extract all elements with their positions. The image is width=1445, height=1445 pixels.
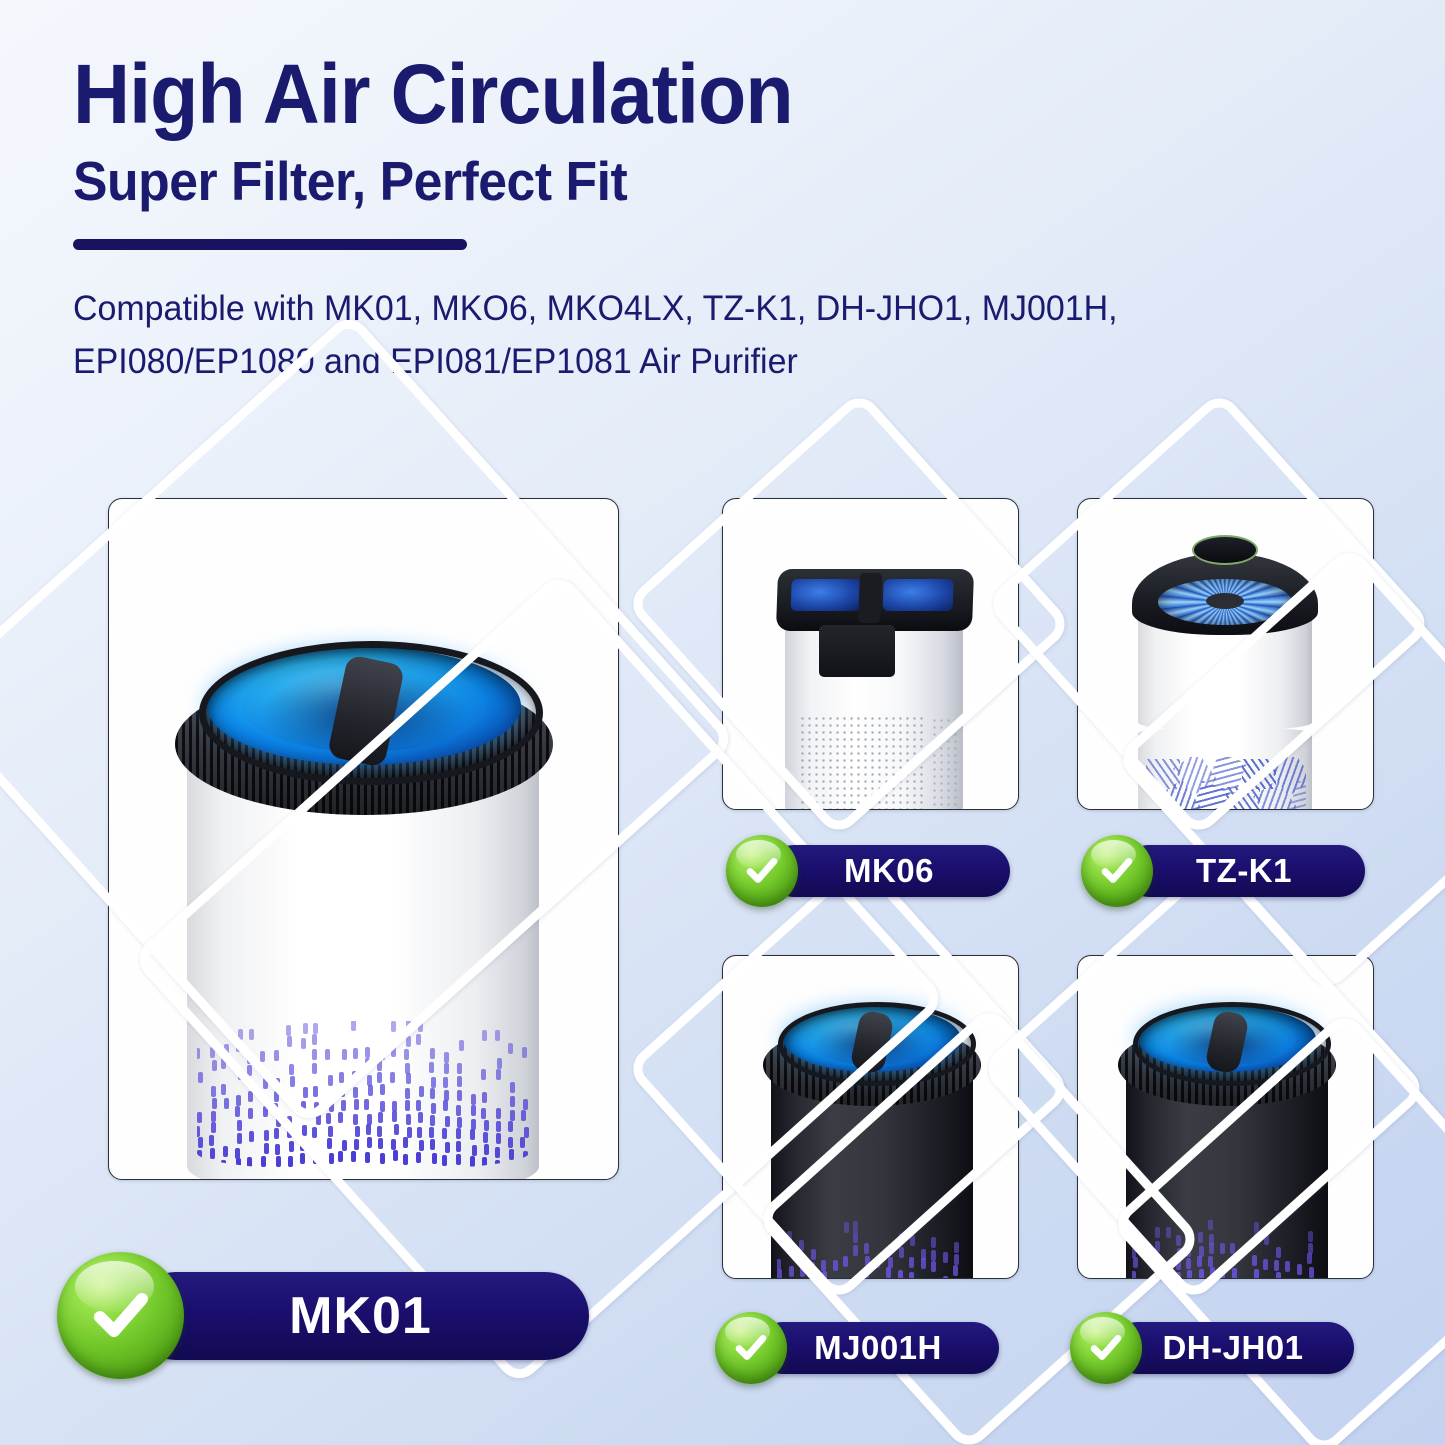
- badge-mj001h: MJ001H: [715, 1322, 999, 1374]
- white-cylindrical-purifier-illustration: [169, 639, 559, 1180]
- fin-ring: [763, 1024, 981, 1106]
- title-divider: [73, 239, 467, 250]
- white-conical-purifier-illustration: [1120, 531, 1335, 810]
- purifier-body: [785, 611, 963, 810]
- perforated-vent-side: [931, 717, 961, 810]
- badge-mk01: MK01: [57, 1272, 589, 1360]
- black-cylindrical-purifier-illustration: [1114, 1002, 1339, 1279]
- badge-label-mk06: MK06: [768, 845, 1010, 897]
- green-check-icon: [715, 1312, 787, 1384]
- white-box-purifier-illustration: [771, 539, 981, 809]
- top-grille: [776, 569, 974, 631]
- fan-inner-glow: [242, 660, 487, 752]
- rim-ring: [199, 641, 543, 785]
- vent-dots: [1132, 1220, 1322, 1279]
- infographic-canvas: High Air Circulation Super Filter, Perfe…: [0, 0, 1445, 1445]
- product-photo-tzk1: [1077, 498, 1374, 810]
- fan-well: [791, 579, 862, 611]
- product-photo-main: [108, 498, 619, 1180]
- fan-well: [207, 647, 521, 765]
- green-check-icon: [726, 835, 798, 907]
- page-title: High Air Circulation: [73, 52, 1295, 136]
- fin-ring: [1118, 1024, 1336, 1106]
- fan-well: [783, 1006, 961, 1072]
- fan-inner-glow: [1158, 1013, 1297, 1065]
- purifier-lower-body: [1138, 727, 1312, 810]
- badge-dhjh01: DH-JH01: [1070, 1322, 1354, 1374]
- header-block: High Air Circulation Super Filter, Perfe…: [73, 52, 1373, 388]
- swirl-fan: [1158, 579, 1292, 625]
- green-check-icon: [1070, 1312, 1142, 1384]
- fan-hub: [1206, 593, 1244, 609]
- purifier-body: [187, 729, 539, 1180]
- fan-well: [883, 579, 954, 611]
- outlet-ring: [1192, 535, 1258, 565]
- product-photo-dhjh01: [1077, 955, 1374, 1279]
- badge-label-dhjh01: DH-JH01: [1112, 1322, 1354, 1374]
- product-photo-mj001h: [722, 955, 1019, 1279]
- product-photo-mk06: [722, 498, 1019, 810]
- grille-spoke: [858, 573, 882, 623]
- conical-top: [1132, 553, 1318, 635]
- badge-label-mk01: MK01: [132, 1272, 589, 1360]
- vent-dots: [777, 1220, 967, 1279]
- page-subtitle: Super Filter, Perfect Fit: [73, 154, 1295, 209]
- vent-dots: [197, 1021, 529, 1171]
- badge-label-mj001h: MJ001H: [757, 1322, 999, 1374]
- purifier-body: [1138, 609, 1312, 731]
- fan-blade: [1204, 1009, 1250, 1075]
- hatched-vent: [1146, 757, 1306, 810]
- green-check-icon: [57, 1252, 184, 1379]
- black-cylindrical-purifier-illustration: [759, 1002, 984, 1279]
- fan-blade: [327, 654, 405, 768]
- fan-inner-glow: [803, 1013, 942, 1065]
- purifier-body: [771, 1056, 973, 1279]
- fan-blade: [849, 1009, 895, 1075]
- badge-label-tzk1: TZ-K1: [1123, 845, 1365, 897]
- rim-ring: [1133, 1002, 1331, 1086]
- fan-well: [1138, 1006, 1316, 1072]
- purifier-body: [1126, 1056, 1328, 1279]
- rim-ring: [778, 1002, 976, 1086]
- compatibility-text: Compatible with MK01, MKO6, MKO4LX, TZ-K…: [73, 283, 1305, 388]
- green-check-icon: [1081, 835, 1153, 907]
- control-panel: [819, 625, 895, 677]
- badge-mk06: MK06: [726, 845, 1010, 897]
- badge-tzk1: TZ-K1: [1081, 845, 1365, 897]
- perforated-vent: [799, 715, 927, 810]
- fin-ring: [175, 673, 553, 815]
